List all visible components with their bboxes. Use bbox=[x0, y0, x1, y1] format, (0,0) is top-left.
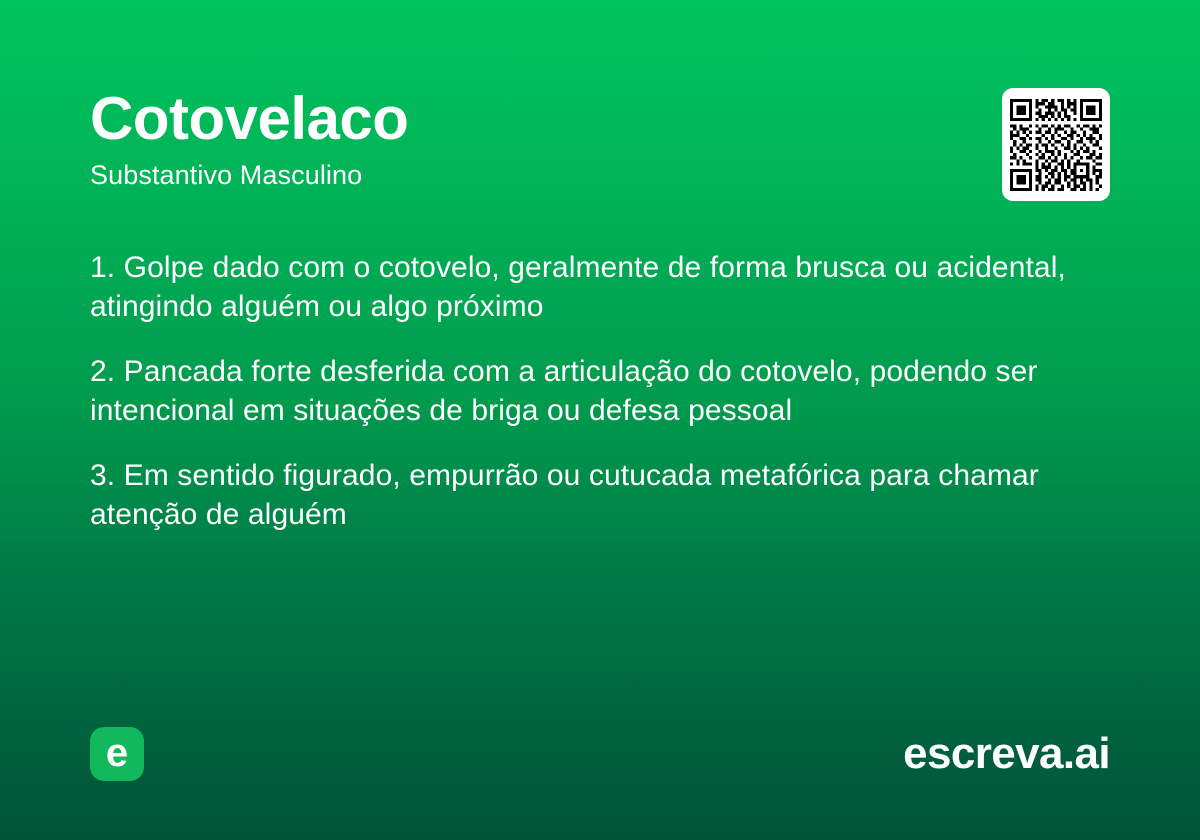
brand-name: escreva.ai bbox=[903, 732, 1110, 776]
dictionary-card: Cotovelaco Substantivo Masculino bbox=[0, 0, 1200, 840]
definition-item: 1. Golpe dado com o cotovelo, geralmente… bbox=[90, 248, 1110, 326]
card-footer: e escreva.ai bbox=[90, 726, 1110, 782]
definition-item: 2. Pancada forte desferida com a articul… bbox=[90, 352, 1110, 430]
card-header: Cotovelaco Substantivo Masculino bbox=[90, 88, 1110, 201]
word-class-label: Substantivo Masculino bbox=[90, 159, 408, 191]
brand-logo-letter: e bbox=[106, 733, 128, 773]
qr-code-card[interactable] bbox=[1002, 88, 1110, 201]
page-title: Cotovelaco bbox=[90, 88, 408, 149]
definition-item: 3. Em sentido figurado, empurrão ou cutu… bbox=[90, 456, 1110, 534]
qr-code-icon bbox=[1010, 99, 1102, 191]
definitions-list: 1. Golpe dado com o cotovelo, geralmente… bbox=[90, 248, 1110, 534]
headings-group: Cotovelaco Substantivo Masculino bbox=[90, 88, 408, 192]
brand-logo-icon: e bbox=[90, 727, 144, 781]
